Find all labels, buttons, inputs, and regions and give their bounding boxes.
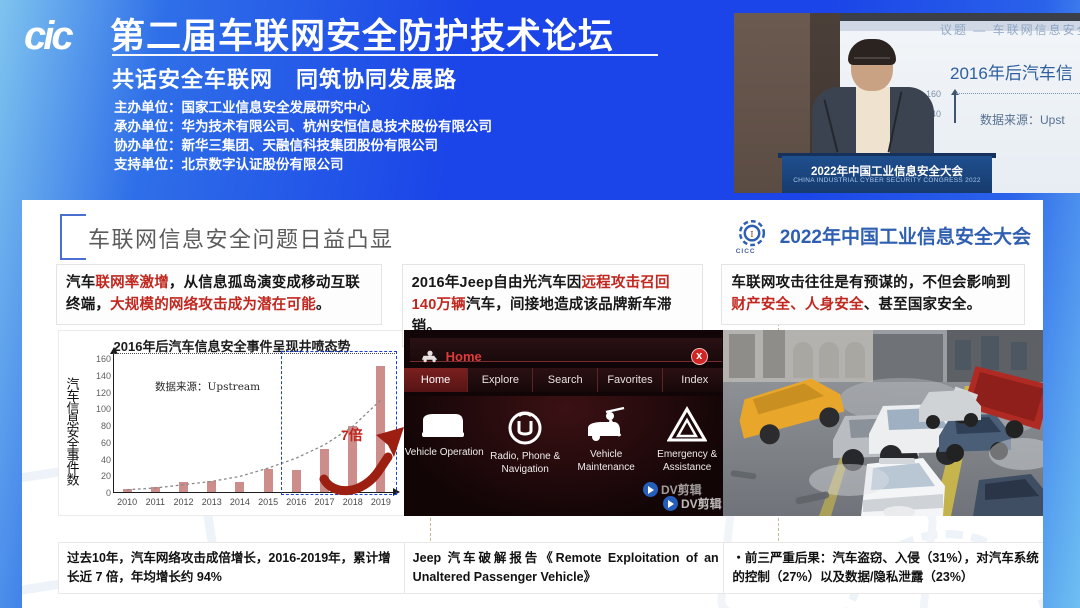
plain-text: 汽车 [66, 275, 95, 291]
organizer-value: 华为技术有限公司、杭州安恒信息技术股份有限公司 [182, 119, 493, 134]
chart-source-note: 数据来源：Upstream [155, 379, 260, 394]
uconnect-title: Home [446, 349, 482, 364]
close-icon[interactable]: x [691, 348, 708, 365]
highlight-text: 联网率激增 [95, 275, 169, 291]
cicc-abbrev: CICC [736, 248, 756, 255]
congress-brand-title: 2022年中国工业信息安全大会 [780, 222, 1031, 249]
uconnect-tab-home[interactable]: Home [404, 368, 469, 392]
chart-y-tick: 20 [101, 471, 111, 481]
column1-caption: 过去10年，汽车网络攻击成倍增长，2016-2019年，累计增长近 7 倍，年均… [58, 542, 406, 594]
podium-subtitle: CHINA INDUSTRIAL CYBER SECURITY CONGRESS… [782, 177, 992, 184]
uconnect-item-label: Vehicle Operation [405, 446, 484, 459]
organizer-list: 主办单位：国家工业信息安全发展研究中心 承办单位：华为技术有限公司、杭州安恒信息… [114, 98, 492, 174]
chart-y-tick: 60 [101, 438, 111, 448]
uconnect-tab-explore[interactable]: Explore [468, 368, 533, 392]
presentation-slide: 车联网信息安全问题日益凸显 I CICC 2022年中国工业信息安全大会 [22, 200, 1043, 608]
organizer-label: 支持单位： [114, 157, 182, 172]
column-connectivity: 汽车联网率激增，从信息孤岛演变成移动互联终端，大规模的网络攻击成为潜在可能。 2… [56, 264, 382, 600]
chart-annotation: 7倍 [341, 425, 363, 445]
highlight-text: 财产安全、人身安全 [731, 297, 863, 313]
crash-scene-photo [723, 330, 1043, 516]
column3-caption: ・前三严重后果：汽车盗窃、入侵（31%），对汽车系统的控制（27%）以及数据/隐… [723, 542, 1043, 594]
uconnect-tabs: HomeExploreSearchFavoritesIndex [404, 368, 728, 392]
column3-lead-text: 车联网攻击往往是有预谋的，不但会影响到财产安全、人身安全、甚至国家安全。 [721, 264, 1025, 325]
highlight-text: 大规模的网络攻击成为潜在可能 [110, 297, 316, 313]
watermark-text: DV剪辑 [681, 495, 722, 512]
organizer-row: 承办单位：华为技术有限公司、杭州安恒信息技术股份有限公司 [114, 117, 492, 136]
chart-x-tick: 2011 [141, 497, 169, 507]
chart-x-tick: 2019 [367, 497, 395, 507]
forum-title: 第二届车联网安全防护技术论坛 [110, 8, 614, 59]
play-icon [643, 482, 658, 497]
uconnect-item-label: Vehicle Maintenance [566, 448, 647, 474]
organizer-value: 新华三集团、天融信科技集团股份有限公司 [182, 138, 439, 153]
slide-columns: 汽车联网率激增，从信息孤岛演变成移动互联终端，大规模的网络攻击成为潜在可能。 2… [56, 264, 1025, 600]
chart-y-tick: 160 [96, 354, 111, 364]
organizer-row: 协办单位：新华三集团、天融信科技集团股份有限公司 [114, 136, 492, 155]
plain-text: 。 [316, 297, 331, 313]
uconnect-screenshot[interactable]: Home x HomeExploreSearchFavoritesIndex [404, 330, 728, 516]
uconnect-car-icon [420, 350, 440, 363]
slide-title: 车联网信息安全问题日益凸显 [88, 222, 394, 254]
svg-text:I: I [750, 230, 753, 240]
organizer-value: 北京数字认证股份有限公司 [182, 157, 344, 172]
chart-x-tick: 2010 [113, 497, 141, 507]
organizer-label: 主办单位： [114, 100, 182, 115]
uconnect-ui: Home x HomeExploreSearchFavoritesIndex [404, 330, 728, 516]
chart-x-tick: 2016 [282, 497, 310, 507]
title-bracket-icon [60, 214, 86, 260]
podium-panel: 2022年中国工业信息安全大会 CHINA INDUSTRIAL CYBER S… [782, 156, 992, 193]
forum-header: cic 第二届车联网安全防护技术论坛 共话安全车联网 同筑协同发展路 主办单位：… [0, 0, 740, 200]
chart-x-tick: 2013 [198, 497, 226, 507]
projected-axis-arrow [954, 93, 956, 123]
speaker-video-panel[interactable]: 议题 — 车联网信息安全态势 2016年后汽车信 160 140 数据来源：Up… [734, 13, 1080, 193]
chart-y-tick: 100 [96, 404, 111, 414]
uconnect-item-vehicle-maintenance[interactable]: Vehicle Maintenance [566, 396, 647, 516]
organizer-label: 协办单位： [114, 138, 182, 153]
organizer-row: 主办单位：国家工业信息安全发展研究中心 [114, 98, 492, 117]
projected-heading: 2016年后汽车信 [950, 59, 1073, 84]
incident-chart: 2016年后汽车信息安全事件呈现井喷态势 汽车信息安全事件数 020406080… [58, 330, 406, 516]
uconnect-item-label: Emergency & Assistance [647, 448, 728, 474]
chart-y-tick: 0 [106, 488, 111, 498]
uconnect-tab-index[interactable]: Index [663, 368, 728, 392]
chart-y-ticks: 020406080100120140160 [83, 359, 111, 493]
uconnect-tab-search[interactable]: Search [533, 368, 598, 392]
chart-x-tick: 2018 [339, 497, 367, 507]
uconnect-item-radio-phone-navigation[interactable]: Radio, Phone & Navigation [485, 396, 566, 516]
column2-caption: Jeep 汽车破解报告《Remote Exploitation of an Un… [404, 542, 728, 594]
forum-subtitle: 共话安全车联网 同筑协同发展路 [112, 62, 457, 94]
speaker-glasses [854, 57, 890, 64]
projected-source-text: 数据来源：Upst [980, 111, 1065, 128]
chart-x-tick: 2017 [310, 497, 338, 507]
chart-x-tick: 2012 [169, 497, 197, 507]
organizer-label: 承办单位： [114, 119, 182, 134]
projected-dotted-line [956, 93, 1080, 94]
car-seat-icon [421, 406, 467, 442]
chart-x-tick-labels: 2010201120122013201420152016201720182019 [113, 497, 395, 507]
plain-text: 车联网攻击往往是有预谋的，不但会影响到 [731, 275, 1010, 291]
organizer-value: 国家工业信息安全发展研究中心 [182, 100, 371, 115]
warning-triangle-icon [667, 406, 707, 444]
chart-x-tick: 2014 [226, 497, 254, 507]
play-icon [663, 496, 678, 511]
car-service-icon [584, 406, 628, 444]
title-divider [112, 54, 658, 56]
slide-stage: cic 第二届车联网安全防护技术论坛 共话安全车联网 同筑协同发展路 主办单位：… [0, 0, 1080, 608]
uconnect-tab-favorites[interactable]: Favorites [598, 368, 663, 392]
column-jeep: 2016年Jeep自由光汽车因远程攻击召回140万辆汽车，间接地造成该品牌新车滞… [402, 264, 704, 600]
uconnect-titlebar: Home x [410, 338, 722, 362]
chart-y-tick: 140 [96, 371, 111, 381]
video-watermark: DV剪辑 [663, 495, 722, 512]
crash-illustration [723, 330, 1043, 516]
projected-top-text: 议题 — 车联网信息安全态势 [940, 21, 1080, 38]
uconnect-item-vehicle-operation[interactable]: Vehicle Operation [404, 396, 485, 516]
cic-logo: cic [24, 16, 71, 56]
chart-y-tick: 80 [101, 421, 111, 431]
plain-text: 、甚至国家安全。 [864, 297, 982, 313]
uconnect-item-label: Radio, Phone & Navigation [485, 450, 566, 476]
uconnect-u-icon [505, 406, 545, 446]
chart-y-tick: 120 [96, 388, 111, 398]
plain-text: 2016年Jeep自由光汽车因 [412, 275, 582, 291]
chart-y-tick: 40 [101, 455, 111, 465]
chart-x-tick: 2015 [254, 497, 282, 507]
cicc-gear-icon: I CICC [733, 216, 771, 254]
organizer-row: 支持单位：北京数字认证股份有限公司 [114, 155, 492, 174]
chart-y-axis-label: 汽车信息安全事件数 [61, 361, 83, 501]
congress-brand: I CICC 2022年中国工业信息安全大会 [733, 216, 1031, 254]
column-consequences: 车联网攻击往往是有预谋的，不但会影响到财产安全、人身安全、甚至国家安全。 [721, 264, 1025, 600]
column1-lead-text: 汽车联网率激增，从信息孤岛演变成移动互联终端，大规模的网络攻击成为潜在可能。 [56, 264, 382, 325]
